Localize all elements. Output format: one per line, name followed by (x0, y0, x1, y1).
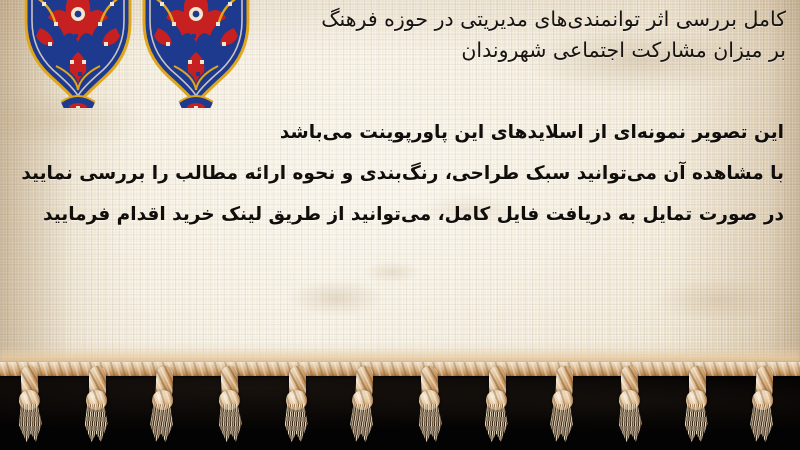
tassel (285, 366, 309, 440)
tassel (350, 366, 377, 441)
tassel-threads (416, 403, 444, 442)
slide-title-line-1: کامل بررسی اثر توانمندی‌های مدیریتی در ح… (0, 4, 786, 35)
tassel-threads (216, 403, 244, 442)
tassel-threads (283, 404, 309, 442)
tassel (550, 366, 577, 441)
tassel-threads (616, 403, 644, 442)
fringe-cord (0, 362, 800, 376)
tassel-threads (548, 403, 576, 442)
slide-canvas: کامل بررسی اثر توانمندی‌های مدیریتی در ح… (0, 0, 800, 450)
tassel (485, 366, 509, 440)
tassel (416, 366, 443, 441)
tassel-threads (83, 404, 109, 442)
slide-body-line-1: این تصویر نمونه‌ای از اسلایدهای این پاور… (0, 112, 784, 153)
tassel (685, 366, 709, 440)
tassel-threads (348, 403, 376, 442)
tassel-threads (16, 403, 44, 442)
tassel-threads (148, 403, 176, 442)
tassel (85, 366, 109, 440)
tassel-threads (748, 403, 776, 442)
slide-body-line-2: با مشاهده آن می‌توانید سبک طراحی، رنگ‌بن… (0, 153, 784, 194)
tassel (616, 366, 643, 441)
slide-title-line-2: بر میزان مشارکت اجتماعی شهروندان (0, 35, 786, 66)
tassel (16, 366, 43, 441)
slide-title: کامل بررسی اثر توانمندی‌های مدیریتی در ح… (0, 4, 786, 66)
slide-body: این تصویر نمونه‌ای از اسلایدهای این پاور… (0, 112, 784, 235)
slide-body-line-3: در صورت تمایل به دریافت فایل کامل، می‌تو… (0, 194, 784, 235)
carpet-tassel-fringe (0, 362, 800, 450)
tassel (150, 366, 177, 441)
tassel-threads (683, 404, 709, 442)
tassel (750, 366, 777, 441)
tassel-threads (483, 404, 509, 442)
tassel (216, 366, 243, 441)
